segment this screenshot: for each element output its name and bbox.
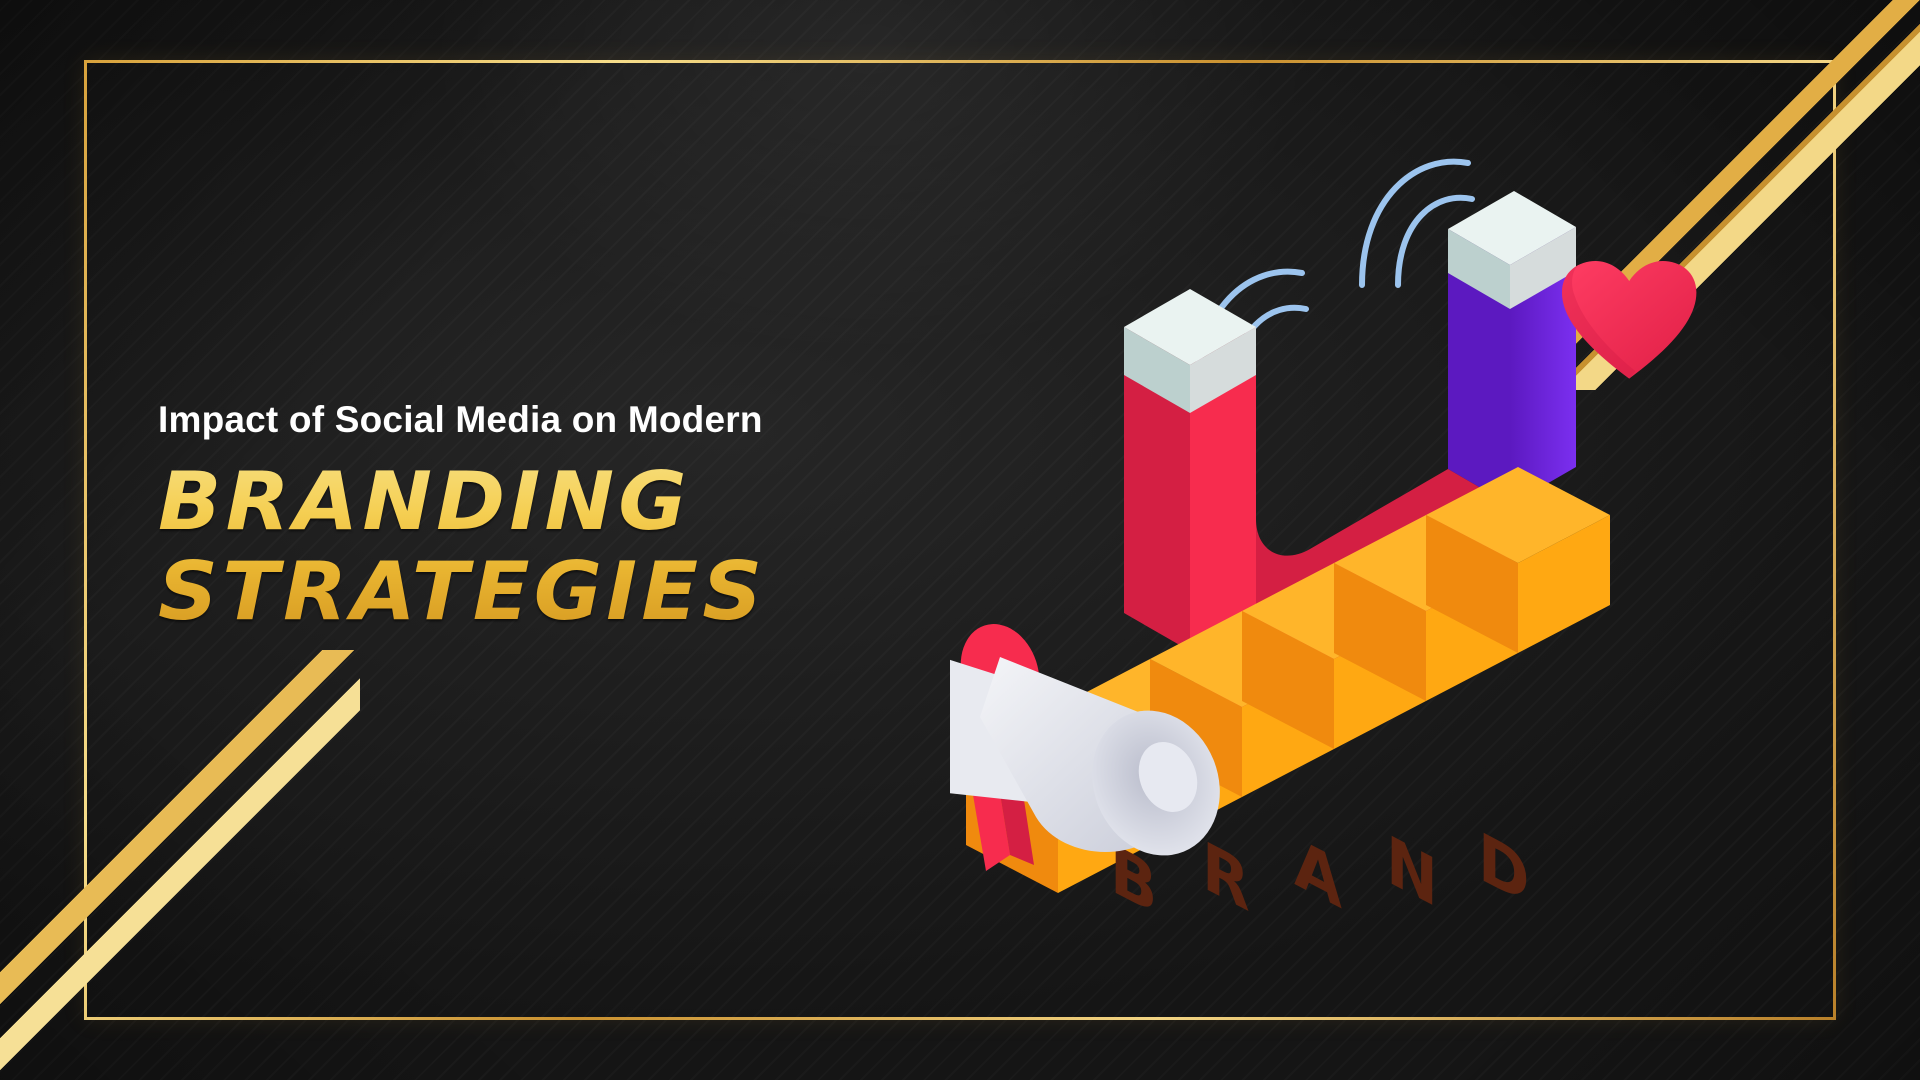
svg-text:R: R — [1202, 826, 1250, 927]
headline-group: Impact of Social Media on Modern BRANDIN… — [158, 400, 978, 635]
headline-line-2: STRATEGIES — [158, 549, 1011, 635]
svg-text:D: D — [1478, 817, 1529, 920]
brand-illustration: B R A N — [950, 95, 1780, 975]
kicker-text: Impact of Social Media on Modern — [158, 400, 978, 441]
heart-icon — [1562, 261, 1696, 379]
brand-block-d: D — [1426, 467, 1610, 920]
page-title: BRANDING STRATEGIES — [158, 459, 1011, 636]
svg-text:N: N — [1386, 820, 1438, 924]
poster-canvas: Impact of Social Media on Modern BRANDIN… — [0, 0, 1920, 1080]
svg-text:A: A — [1294, 823, 1342, 925]
headline-line-1: BRANDING — [158, 455, 691, 548]
